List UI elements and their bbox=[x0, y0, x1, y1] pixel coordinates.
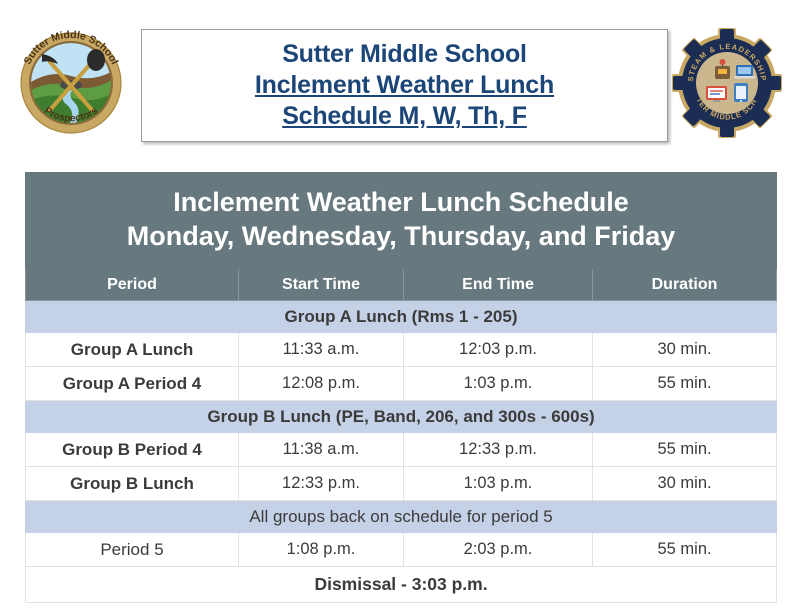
table-row: Period 5 1:08 p.m. 2:03 p.m. 55 min. bbox=[26, 533, 777, 567]
row-period: Group A Lunch bbox=[26, 333, 239, 367]
row-period: Group B Lunch bbox=[26, 467, 239, 501]
column-header-end-time: End Time bbox=[404, 269, 593, 301]
row-start-time: 12:33 p.m. bbox=[239, 467, 404, 501]
dismissal-label: Dismissal - 3:03 p.m. bbox=[26, 567, 777, 603]
title-line-3: Schedule M, W, Th, F bbox=[282, 101, 527, 132]
row-end-time: 12:03 p.m. bbox=[404, 333, 593, 367]
group-a-band-row: Group A Lunch (Rms 1 - 205) bbox=[26, 301, 777, 333]
row-duration: 30 min. bbox=[593, 467, 777, 501]
sutter-middle-school-prospectors-seal-icon: Sutter Middle School Prospectors bbox=[12, 24, 130, 142]
row-end-time: 2:03 p.m. bbox=[404, 533, 593, 567]
group-a-band-label: Group A Lunch (Rms 1 - 205) bbox=[26, 301, 777, 333]
table-row: Group A Lunch 11:33 a.m. 12:03 p.m. 30 m… bbox=[26, 333, 777, 367]
period5-band-label: All groups back on schedule for period 5 bbox=[26, 501, 777, 533]
group-b-band-row: Group B Lunch (PE, Band, 206, and 300s -… bbox=[26, 401, 777, 433]
row-end-time: 1:03 p.m. bbox=[404, 467, 593, 501]
row-duration: 55 min. bbox=[593, 433, 777, 467]
row-period: Group B Period 4 bbox=[26, 433, 239, 467]
row-end-time: 12:33 p.m. bbox=[404, 433, 593, 467]
title-line-1: Sutter Middle School bbox=[282, 39, 527, 70]
table-banner-cell: Inclement Weather Lunch Schedule Monday,… bbox=[26, 173, 777, 269]
column-header-row: Period Start Time End Time Duration bbox=[26, 269, 777, 301]
title-box: Sutter Middle School Inclement Weather L… bbox=[141, 29, 668, 142]
banner-line-2: Monday, Wednesday, Thursday, and Friday bbox=[26, 219, 776, 253]
row-period: Group A Period 4 bbox=[26, 367, 239, 401]
schedule-table: Inclement Weather Lunch Schedule Monday,… bbox=[25, 172, 777, 603]
inclement-weather-lunch-schedule-page: Sutter Middle School Prospectors Sutter … bbox=[0, 0, 800, 608]
row-duration: 55 min. bbox=[593, 533, 777, 567]
group-b-band-label: Group B Lunch (PE, Band, 206, and 300s -… bbox=[26, 401, 777, 433]
column-header-duration: Duration bbox=[593, 269, 777, 301]
table-banner-row: Inclement Weather Lunch Schedule Monday,… bbox=[26, 173, 777, 269]
row-start-time: 12:08 p.m. bbox=[239, 367, 404, 401]
row-duration: 30 min. bbox=[593, 333, 777, 367]
title-line-2: Inclement Weather Lunch bbox=[255, 70, 554, 101]
table-row: Group B Period 4 11:38 a.m. 12:33 p.m. 5… bbox=[26, 433, 777, 467]
table-row: Group B Lunch 12:33 p.m. 1:03 p.m. 30 mi… bbox=[26, 467, 777, 501]
dismissal-row: Dismissal - 3:03 p.m. bbox=[26, 567, 777, 603]
row-start-time: 11:33 a.m. bbox=[239, 333, 404, 367]
row-end-time: 1:03 p.m. bbox=[404, 367, 593, 401]
column-header-period: Period bbox=[26, 269, 239, 301]
banner-line-1: Inclement Weather Lunch Schedule bbox=[26, 185, 776, 219]
row-start-time: 11:38 a.m. bbox=[239, 433, 404, 467]
column-header-start-time: Start Time bbox=[239, 269, 404, 301]
steam-leadership-gear-badge-icon: STEAM & LEADERSHIP SUTTER MIDDLE SCHOOL bbox=[668, 24, 786, 142]
row-start-time: 1:08 p.m. bbox=[239, 533, 404, 567]
header-band: Sutter Middle School Prospectors Sutter … bbox=[0, 0, 800, 160]
row-period: Period 5 bbox=[26, 533, 239, 567]
table-row: Group A Period 4 12:08 p.m. 1:03 p.m. 55… bbox=[26, 367, 777, 401]
period5-band-row: All groups back on schedule for period 5 bbox=[26, 501, 777, 533]
row-duration: 55 min. bbox=[593, 367, 777, 401]
